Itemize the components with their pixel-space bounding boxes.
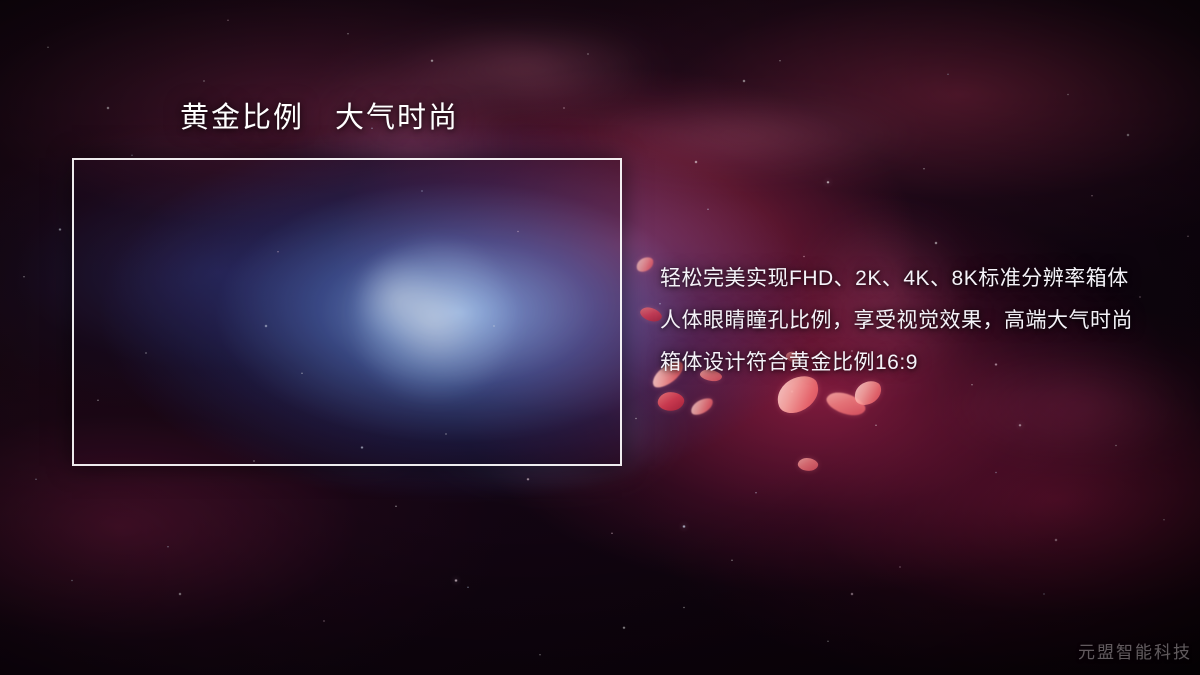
photo-inner [74, 160, 620, 464]
watermark: 元盟智能科技 [1078, 638, 1192, 663]
photo-frame[interactable] [72, 158, 622, 466]
petal [688, 396, 715, 418]
petal [797, 456, 820, 473]
body-line-2: 人体眼睛瞳孔比例，享受视觉效果，高端大气时尚 [660, 300, 1180, 342]
page-title: 黄金比例 大气时尚 [180, 100, 459, 136]
slide-canvas: 黄金比例 大气时尚 轻松完美实现FHD、2K、4K、8K标准分辨率箱体 人体眼睛… [0, 0, 1200, 675]
body-text-block: 轻松完美实现FHD、2K、4K、8K标准分辨率箱体 人体眼睛瞳孔比例，享受视觉效… [660, 258, 1180, 384]
photo-dim-overlay [74, 160, 620, 464]
petal [634, 255, 655, 273]
body-line-3: 箱体设计符合黄金比例16:9 [660, 342, 1180, 384]
body-line-1: 轻松完美实现FHD、2K、4K、8K标准分辨率箱体 [660, 258, 1180, 300]
petal [657, 390, 686, 413]
